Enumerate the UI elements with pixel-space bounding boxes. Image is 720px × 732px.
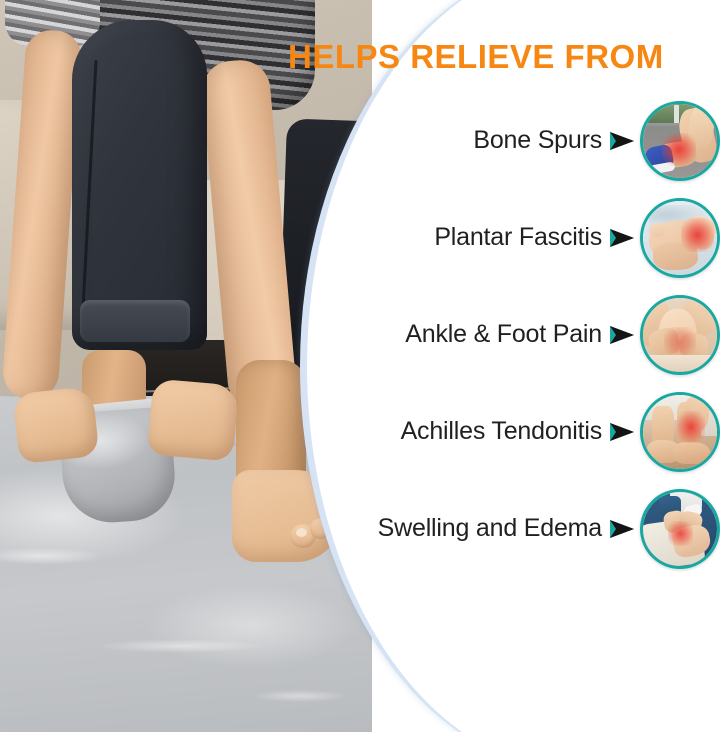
play-arrow-icon — [609, 421, 635, 443]
condition-thumbnail — [640, 198, 720, 278]
play-arrow-icon — [609, 227, 635, 249]
condition-label: Achilles Tendonitis — [401, 417, 602, 446]
list-item[interactable]: Ankle & Foot Pain — [330, 286, 720, 383]
list-item[interactable]: Swelling and Edema — [330, 480, 720, 577]
condition-thumbnail — [640, 489, 720, 569]
list-item[interactable]: Bone Spurs — [330, 92, 720, 189]
promo-banner: HELPS RELIEVE FROM Bone Spurs Plant — [0, 0, 720, 732]
right-hand — [147, 378, 239, 461]
list-item[interactable]: Achilles Tendonitis — [330, 383, 720, 480]
condition-label: Swelling and Edema — [378, 514, 602, 543]
condition-thumbnail — [640, 101, 720, 181]
conditions-list: Bone Spurs Plantar Fascitis — [330, 92, 720, 577]
list-item[interactable]: Plantar Fascitis — [330, 189, 720, 286]
condition-thumbnail — [640, 392, 720, 472]
play-arrow-icon — [609, 324, 635, 346]
condition-label: Ankle & Foot Pain — [405, 320, 602, 349]
jeans-cuff — [80, 300, 190, 342]
play-arrow-icon — [609, 518, 635, 540]
toenail — [296, 528, 307, 537]
play-arrow-icon — [609, 130, 635, 152]
condition-label: Bone Spurs — [473, 126, 602, 155]
condition-label: Plantar Fascitis — [434, 223, 602, 252]
left-hand — [13, 386, 100, 464]
condition-thumbnail — [640, 295, 720, 375]
page-title: HELPS RELIEVE FROM — [288, 38, 708, 76]
